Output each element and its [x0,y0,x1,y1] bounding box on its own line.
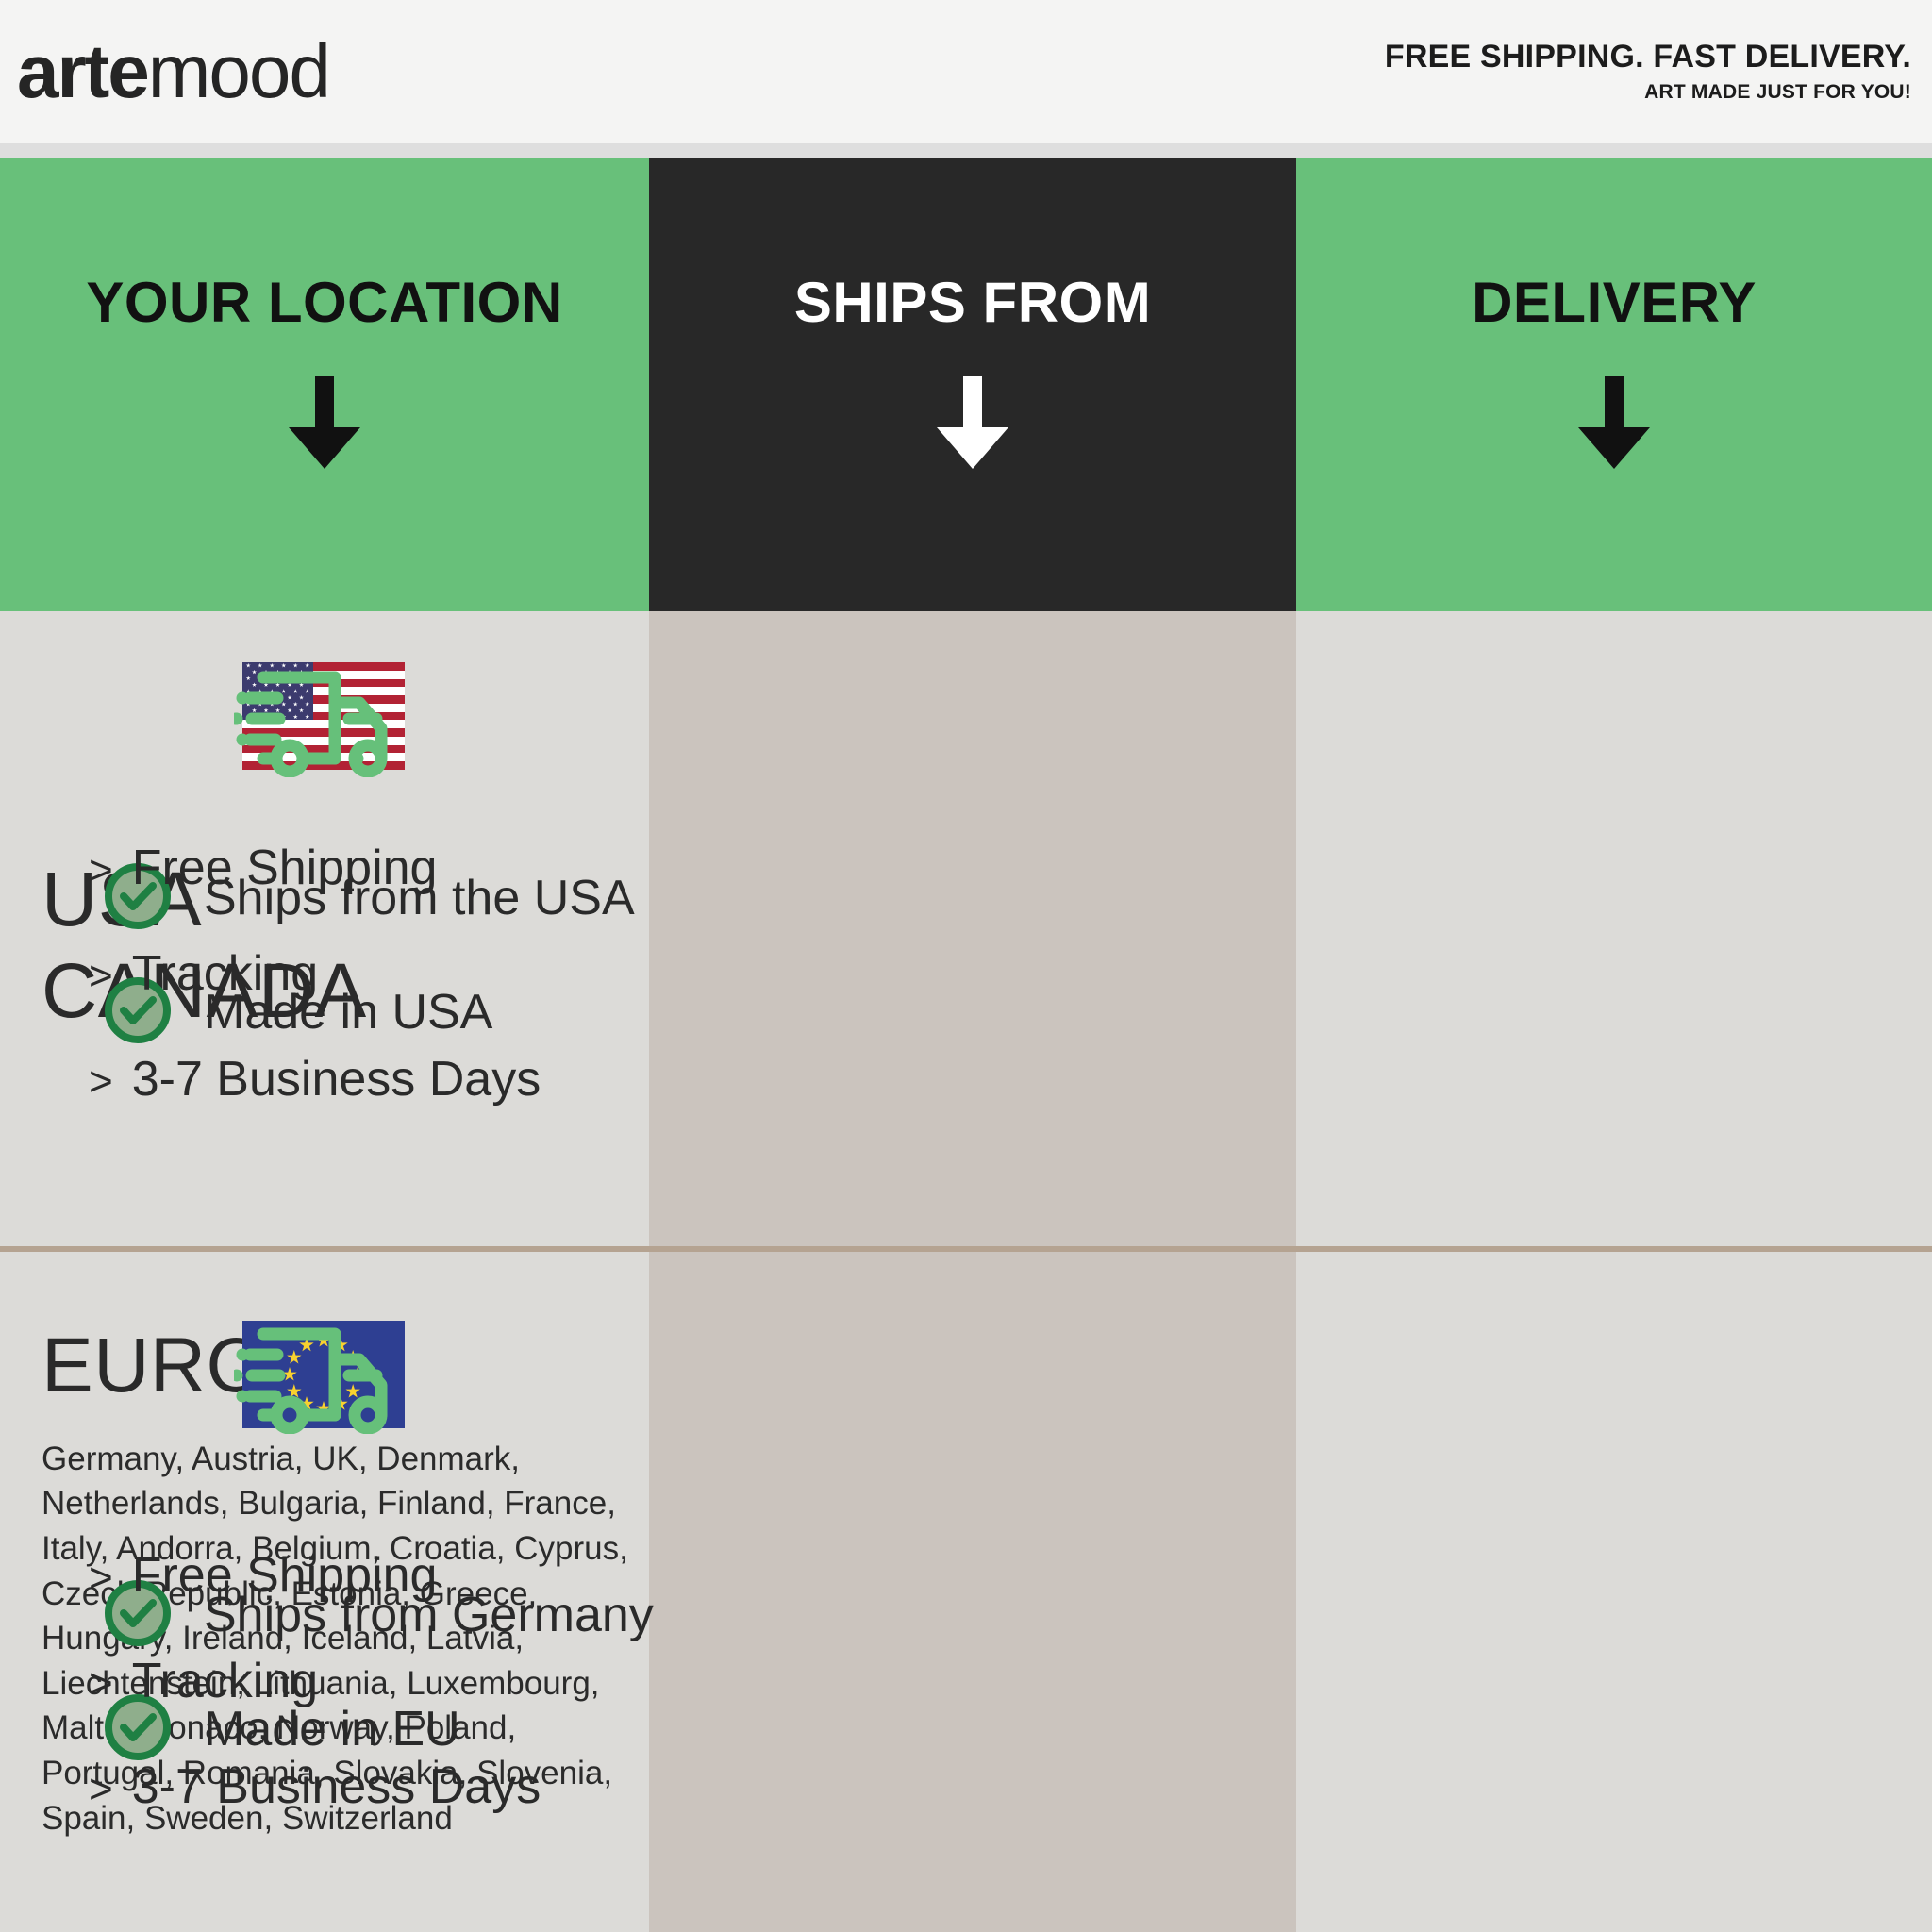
delivery-truck-icon [0,1317,636,1434]
arrow-down-icon [927,376,1018,479]
chevron-right-icon: > [89,1555,113,1602]
column-title-your-location: YOUR LOCATION [86,270,562,335]
chevron-right-icon: > [89,1058,113,1106]
column-header-band: YOUR LOCATION SHIPS FROM DELIVERY [0,158,1932,611]
delivery-item-label: Free Shipping [132,1547,438,1604]
tagline-secondary: ART MADE JUST FOR YOU! [1385,82,1911,103]
delivery-item-label: Tracking [132,945,318,1002]
chevron-right-icon: > [89,1660,113,1707]
column-header-ships-from: SHIPS FROM [649,158,1296,611]
delivery-item: > 3-7 Business Days [89,1051,541,1108]
site-header: artemood FREE SHIPPING. FAST DELIVERY. A… [0,0,1932,143]
chevron-right-icon: > [89,847,113,894]
logo-text-light: mood [148,34,329,109]
column-header-your-location: YOUR LOCATION [0,158,649,611]
delivery-item: > Tracking [89,1653,541,1709]
arrow-down-icon [279,376,370,479]
cell-ships-europe-bg [649,1252,1296,1932]
tagline-primary: FREE SHIPPING. FAST DELIVERY. [1385,41,1911,75]
shipping-info-infographic: artemood FREE SHIPPING. FAST DELIVERY. A… [0,0,1932,1932]
delivery-list-europe: > Free Shipping > Tracking > 3-7 Busines… [89,1547,541,1815]
delivery-item: > Free Shipping [89,1547,541,1604]
delivery-item: > Free Shipping [89,840,541,896]
cell-delivery-europe-bg [1296,1252,1932,1932]
column-header-delivery: DELIVERY [1296,158,1932,611]
delivery-item: > 3-7 Business Days [89,1758,541,1815]
delivery-item: > Tracking [89,945,541,1002]
chevron-right-icon: > [89,1766,113,1813]
delivery-list-usa: > Free Shipping > Tracking > 3-7 Busines… [89,840,541,1108]
column-title-delivery: DELIVERY [1472,270,1757,335]
cell-ships-usa-bg [649,611,1296,1252]
arrow-down-icon [1569,376,1659,479]
header-divider [0,143,1932,158]
delivery-item-label: 3-7 Business Days [132,1051,541,1108]
delivery-truck-icon [0,660,636,777]
logo-text-bold: arte [17,34,148,109]
header-tagline-group: FREE SHIPPING. FAST DELIVERY. ART MADE J… [1385,41,1911,103]
artemood-logo[interactable]: artemood [17,34,329,109]
delivery-item-label: 3-7 Business Days [132,1758,541,1815]
cell-delivery-usa-bg [1296,611,1932,1252]
column-title-ships-from: SHIPS FROM [794,270,1151,335]
chevron-right-icon: > [89,953,113,1000]
delivery-item-label: Free Shipping [132,840,438,896]
delivery-item-label: Tracking [132,1653,318,1709]
row-divider [0,1246,1932,1252]
